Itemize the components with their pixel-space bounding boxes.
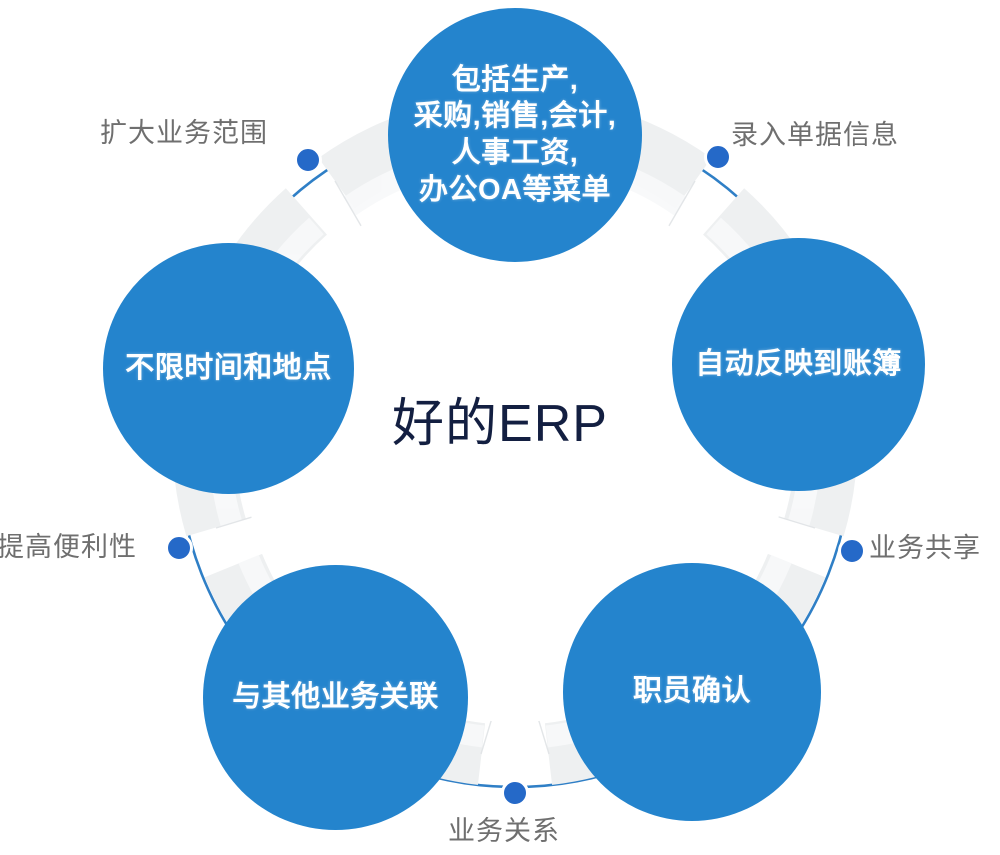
caption-improve-convenience: 提高便利性: [0, 534, 137, 561]
caption-business-relations: 业务关系: [448, 818, 560, 845]
node-bubble-lower-left[interactable]: 与其他业务关联: [203, 565, 468, 830]
node-bubble-lower-right-label: 职员确认: [627, 673, 757, 710]
diagram-canvas: 包括生产, 采购,销售,会计, 人事工资, 办公OA等菜单 不限时间和地点 自动…: [0, 0, 1000, 855]
marker-dot-left: [167, 536, 192, 561]
node-bubble-upper-right-label: 自动反映到账簿: [689, 346, 908, 383]
node-bubble-lower-left-label: 与其他业务关联: [226, 679, 445, 716]
center-title: 好的ERP: [0, 398, 1000, 450]
caption-expand-business-scope: 扩大业务范围: [100, 120, 268, 147]
node-bubble-upper-left-label: 不限时间和地点: [119, 350, 338, 387]
node-bubble-lower-right[interactable]: 职员确认: [563, 563, 821, 821]
node-bubble-top-label: 包括生产, 采购,销售,会计, 人事工资, 办公OA等菜单: [408, 62, 623, 208]
marker-dot-top-left: [296, 148, 321, 173]
caption-business-sharing: 业务共享: [869, 535, 981, 562]
marker-dot-bottom: [503, 781, 528, 806]
node-bubble-upper-left[interactable]: 不限时间和地点: [103, 243, 354, 494]
caption-enter-document-info: 录入单据信息: [731, 122, 899, 149]
marker-dot-top-right: [706, 145, 731, 170]
node-bubble-upper-right[interactable]: 自动反映到账簿: [672, 238, 925, 491]
node-bubble-top[interactable]: 包括生产, 采购,销售,会计, 人事工资, 办公OA等菜单: [388, 8, 642, 262]
marker-dot-right: [840, 539, 865, 564]
